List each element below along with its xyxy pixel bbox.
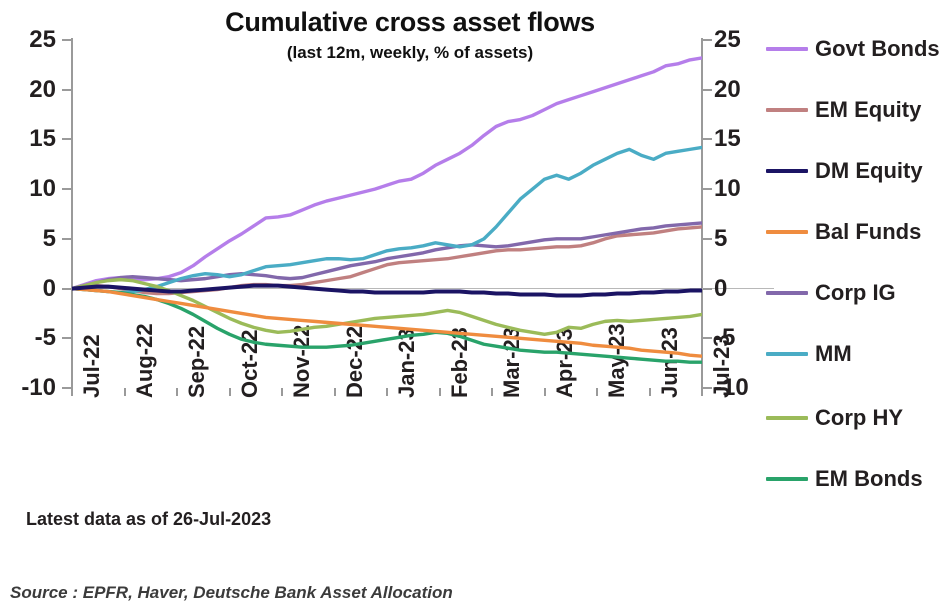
legend-swatch-icon: [766, 291, 808, 295]
legend-item-em-bonds[interactable]: EM Bonds: [766, 466, 923, 492]
legend-swatch-icon: [766, 47, 808, 51]
plot-area: [72, 40, 702, 388]
legend-item-govt-bonds[interactable]: Govt Bonds: [766, 36, 940, 62]
x-tick-label: Jul-23: [711, 334, 733, 398]
legend-swatch-icon: [766, 416, 808, 420]
x-tick: [176, 388, 178, 396]
y-tick-left: [62, 387, 71, 389]
y-tick-label-right: 10: [714, 177, 774, 201]
legend-item-dm-equity[interactable]: DM Equity: [766, 158, 923, 184]
y-tick-label-left: 15: [0, 127, 56, 151]
y-tick-label-left: 0: [0, 277, 56, 301]
legend-label: DM Equity: [815, 160, 923, 182]
legend-label: Corp IG: [815, 282, 896, 304]
y-tick-left: [62, 39, 71, 41]
y-tick-right: [703, 89, 712, 91]
latest-data-note: Latest data as of 26-Jul-2023: [26, 509, 271, 530]
series-line: [72, 223, 702, 289]
x-tick: [701, 388, 703, 396]
legend-swatch-icon: [766, 230, 808, 234]
x-tick: [649, 388, 651, 396]
x-tick: [439, 388, 441, 396]
y-tick-label-left: -10: [0, 376, 56, 400]
series-plot: [72, 40, 702, 388]
legend-item-em-equity[interactable]: EM Equity: [766, 97, 921, 123]
series-line: [72, 147, 702, 292]
y-tick-label-left: 10: [0, 177, 56, 201]
x-tick: [386, 388, 388, 396]
legend-label: EM Equity: [815, 99, 921, 121]
y-tick-label-left: -5: [0, 326, 56, 350]
x-tick: [334, 388, 336, 396]
legend-label: Corp HY: [815, 407, 903, 429]
x-tick: [544, 388, 546, 396]
x-tick: [71, 388, 73, 396]
y-tick-label-right: 5: [714, 227, 774, 251]
y-tick-label-right: 25: [714, 28, 774, 52]
y-tick-label-left: 20: [0, 78, 56, 102]
x-tick: [229, 388, 231, 396]
chart-title: Cumulative cross asset flows: [150, 8, 670, 36]
legend-swatch-icon: [766, 352, 808, 356]
legend-label: EM Bonds: [815, 468, 923, 490]
source-note: Source : EPFR, Haver, Deutsche Bank Asse…: [10, 583, 453, 603]
y-tick-left: [62, 138, 71, 140]
x-tick: [491, 388, 493, 396]
legend-label: MM: [815, 343, 852, 365]
y-tick-right: [703, 188, 712, 190]
y-tick-right: [703, 288, 712, 290]
legend-item-mm[interactable]: MM: [766, 341, 852, 367]
y-tick-label-left: 5: [0, 227, 56, 251]
y-tick-left: [62, 89, 71, 91]
y-tick-label-right: 15: [714, 127, 774, 151]
y-tick-right: [703, 138, 712, 140]
y-tick-left: [62, 188, 71, 190]
series-line: [72, 58, 702, 289]
x-tick: [596, 388, 598, 396]
y-tick-label-left: 25: [0, 28, 56, 52]
y-tick-right: [703, 238, 712, 240]
y-tick-label-right: 0: [714, 277, 774, 301]
legend-item-corp-hy[interactable]: Corp HY: [766, 405, 903, 431]
legend-swatch-icon: [766, 169, 808, 173]
legend-label: Govt Bonds: [815, 38, 940, 60]
y-tick-right: [703, 39, 712, 41]
legend-item-bal-funds[interactable]: Bal Funds: [766, 219, 921, 245]
y-tick-left: [62, 288, 71, 290]
legend-swatch-icon: [766, 477, 808, 481]
y-tick-label-right: 20: [714, 78, 774, 102]
legend-swatch-icon: [766, 108, 808, 112]
chart-canvas: Cumulative cross asset flows (last 12m, …: [0, 0, 952, 612]
y-tick-left: [62, 337, 71, 339]
x-tick: [281, 388, 283, 396]
legend-item-corp-ig[interactable]: Corp IG: [766, 280, 896, 306]
x-tick: [124, 388, 126, 396]
legend-label: Bal Funds: [815, 221, 921, 243]
y-tick-left: [62, 238, 71, 240]
